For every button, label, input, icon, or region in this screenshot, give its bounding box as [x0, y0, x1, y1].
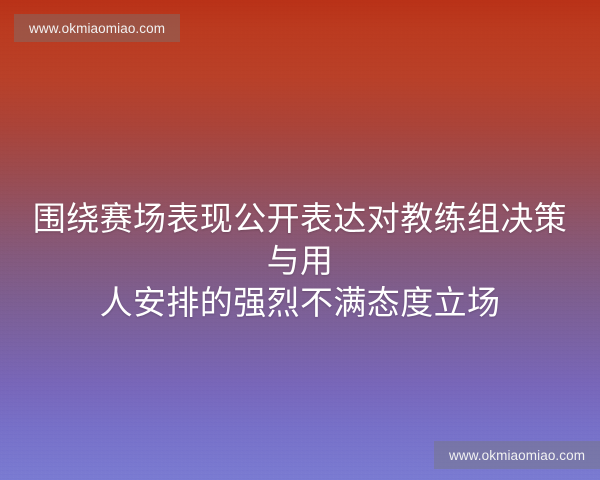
headline-text: 围绕赛场表现公开表达对教练组决策与用 人安排的强烈不满态度立场	[0, 198, 600, 324]
poster-canvas: www.okmiaomiao.com 围绕赛场表现公开表达对教练组决策与用 人安…	[0, 0, 600, 480]
watermark-top: www.okmiaomiao.com	[14, 14, 180, 42]
watermark-bottom: www.okmiaomiao.com	[434, 441, 600, 469]
watermark-bottom-label: www.okmiaomiao.com	[449, 448, 585, 463]
watermark-top-label: www.okmiaomiao.com	[29, 21, 165, 36]
